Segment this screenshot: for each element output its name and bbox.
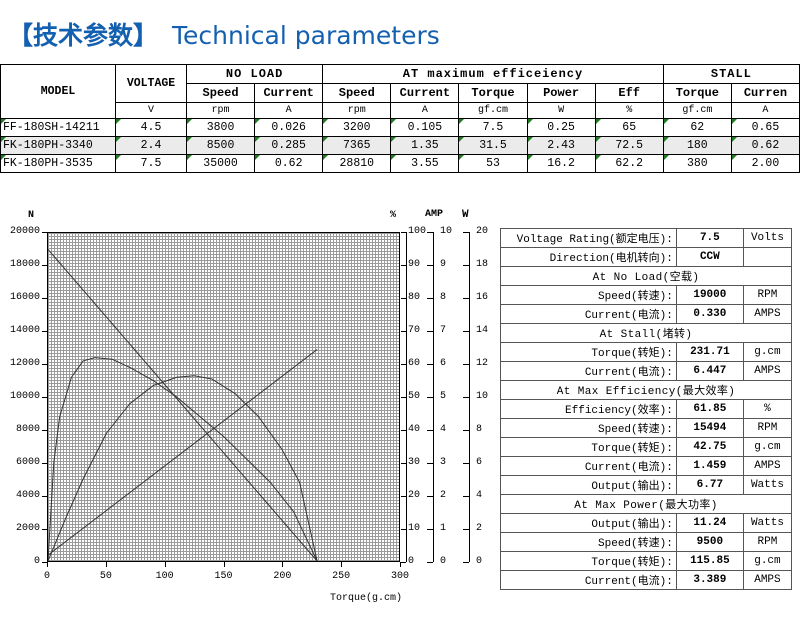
panel-data-row: Efficiency(效率):61.85% [501,400,792,419]
cell-st-torque: 380 [663,155,731,173]
cell-nl-speed: 8500 [187,137,255,155]
panel-section-row: At Stall(堵转) [501,324,792,343]
axis-tick [401,364,406,365]
cell-voltage: 4.5 [116,119,187,137]
axis-tick-label: 6000 [0,457,40,468]
panel-row-value: 61.85 [676,400,743,419]
axis-tick-label: 300 [388,571,412,582]
sub-st-torque: Torque [663,84,731,103]
panel-row-value: 115.85 [676,552,743,571]
axis-tick-label: 18000 [0,259,40,270]
panel-row-unit [743,248,791,267]
axis-tick [427,496,433,497]
axis-tick-label: 60 [408,358,420,369]
cell-me-torque: 31.5 [459,137,527,155]
tech-parameters-page: 【技术参数】Technical parameters MODEL VOLTAGE… [0,0,800,622]
panel-data-row: Current(电流):1.459AMPS [501,457,792,476]
cell-model: FK-180PH-3340 [1,137,116,155]
cell-nl-current: 0.026 [255,119,323,137]
panel-row-value: 19000 [676,286,743,305]
panel-section-label: At No Load(空载) [501,267,792,286]
axis-tick [463,562,469,563]
axis-tick-label: 150 [212,571,236,582]
axis-tick-label: 30 [408,457,420,468]
panel-row-value: CCW [676,248,743,267]
cell-me-power: 0.25 [527,119,595,137]
panel-row-unit: g.cm [743,343,791,362]
col-model: MODEL [1,65,116,119]
panel-row-label: Efficiency(效率): [501,400,677,419]
unit-st-torque: gf.cm [663,103,731,119]
axis-tick-label: 80 [408,292,420,303]
axis-tick [427,364,433,365]
axis-tick [165,562,166,567]
axis-tick-label: 0 [476,556,482,567]
axis-tick-label: 200 [270,571,294,582]
unit-nl-current: A [255,103,323,119]
panel-data-row: Torque(转矩):42.75g.cm [501,438,792,457]
unit-me-current: A [391,103,459,119]
axis-tick [401,430,406,431]
sub-st-current: Curren [731,84,799,103]
panel-row-unit: AMPS [743,571,791,590]
axis-tick-label: 14 [476,325,488,336]
axis-tick [463,463,469,464]
cell-st-torque: 62 [663,119,731,137]
sub-me-current: Current [391,84,459,103]
axis-tick-label: 10 [408,523,420,534]
group-no-load: NO LOAD [187,65,323,84]
axis-tick-label: 2 [476,523,482,534]
cell-me-power: 2.43 [527,137,595,155]
panel-row-unit: % [743,400,791,419]
x-axis-label: Torque(g.cm) [330,593,402,604]
panel-row-unit: g.cm [743,552,791,571]
axis-tick-label: 8 [476,424,482,435]
axis-head-amp: AMP [425,209,443,220]
panel-row-unit: AMPS [743,305,791,324]
axis-tick-label: 6 [476,457,482,468]
panel-section-label: At Max Power(最大功率) [501,495,792,514]
panel-data-row: Torque(转矩):231.71g.cm [501,343,792,362]
panel-section-row: At Max Efficiency(最大效率) [501,381,792,400]
table-row: FK-180PH-35357.5350000.62288103.555316.2… [1,155,800,173]
axis-tick [47,562,48,567]
axis-head-n: N [28,210,34,221]
axis-tick [401,397,406,398]
axis-tick [463,331,469,332]
panel-row-unit: Watts [743,514,791,533]
unit-st-current: A [731,103,799,119]
cell-st-current: 0.65 [731,119,799,137]
axis-tick-label: 70 [408,325,420,336]
panel-row-label: Current(电流): [501,571,677,590]
axis-tick [401,463,406,464]
panel-data-row: Output(输出):6.77Watts [501,476,792,495]
panel-data-row: Speed(转速):9500RPM [501,533,792,552]
panel-row-label: Current(电流): [501,305,677,324]
axis-tick-label: 50 [408,391,420,402]
axis-tick-label: 250 [329,571,353,582]
panel-row-label: Torque(转矩): [501,438,677,457]
cell-me-current: 3.55 [391,155,459,173]
panel-row-value: 15494 [676,419,743,438]
panel-row-label: Output(输出): [501,476,677,495]
axis-tick [401,562,406,563]
axis-tick-label: 100 [408,226,426,237]
panel-row-unit: RPM [743,533,791,552]
cell-st-torque: 180 [663,137,731,155]
cell-me-speed: 28810 [323,155,391,173]
axis-tick-label: 8000 [0,424,40,435]
axis-tick-label: 5 [440,391,446,402]
unit-nl-speed: rpm [187,103,255,119]
panel-data-row: Speed(转速):15494RPM [501,419,792,438]
cell-voltage: 2.4 [116,137,187,155]
panel-row-value: 3.389 [676,571,743,590]
cell-me-speed: 7365 [323,137,391,155]
panel-data-row: Output(输出):11.24Watts [501,514,792,533]
panel-row-value: 6.447 [676,362,743,381]
axis-tick-label: 90 [408,259,420,270]
axis-tick [401,529,406,530]
panel-row-value: 11.24 [676,514,743,533]
cell-me-torque: 7.5 [459,119,527,137]
axis-tick [427,529,433,530]
panel-data-row: Current(电流):3.389AMPS [501,571,792,590]
axis-tick-label: 100 [153,571,177,582]
spec-header-row-groups: MODEL VOLTAGE NO LOAD AT maximum efficei… [1,65,800,84]
panel-section-row: At Max Power(最大功率) [501,495,792,514]
cell-me-power: 16.2 [527,155,595,173]
axis-tick [427,397,433,398]
group-stall: STALL [663,65,799,84]
axis-tick-label: 4000 [0,490,40,501]
axis-tick [463,298,469,299]
axis-tick-label: 10 [440,226,452,237]
axis-tick-label: 10000 [0,391,40,402]
spec-table-body: FF-180SH-142114.538000.02632000.1057.50.… [1,119,800,173]
cell-nl-speed: 3800 [187,119,255,137]
spec-table-container: MODEL VOLTAGE NO LOAD AT maximum efficei… [0,64,800,173]
axis-tick-label: 2000 [0,523,40,534]
axis-tick [401,232,406,233]
axis-tick [341,562,342,567]
panel-section-row: At No Load(空载) [501,267,792,286]
spec-table: MODEL VOLTAGE NO LOAD AT maximum efficei… [0,64,800,173]
panel-row-label: Torque(转矩): [501,552,677,571]
sub-me-speed: Speed [323,84,391,103]
panel-row-unit: Watts [743,476,791,495]
panel-row-unit: g.cm [743,438,791,457]
axis-tick [463,232,469,233]
panel-row-label: Speed(转速): [501,419,677,438]
axis-tick-label: 50 [94,571,118,582]
panel-row-label: Direction(电机转向): [501,248,677,267]
panel-section-label: At Max Efficiency(最大效率) [501,381,792,400]
panel-data-row: Speed(转速):19000RPM [501,286,792,305]
sub-nl-speed: Speed [187,84,255,103]
panel-row-unit: RPM [743,286,791,305]
unit-me-power: W [527,103,595,119]
unit-voltage: V [116,103,187,119]
panel-row-label: Torque(转矩): [501,343,677,362]
axis-tick-label: 20000 [0,226,40,237]
axis-tick-label: 10 [476,391,488,402]
axis-tick-label: 16000 [0,292,40,303]
cell-me-eff: 62.2 [595,155,663,173]
axis-tick [400,562,401,567]
cell-me-speed: 3200 [323,119,391,137]
panel-row-value: 0.330 [676,305,743,324]
axis-head-pct: % [390,210,396,221]
axis-tick-label: 20 [408,490,420,501]
sub-nl-current: Current [255,84,323,103]
axis-tick-label: 7 [440,325,446,336]
axis-tick-label: 9 [440,259,446,270]
page-title-en: Technical parameters [172,21,440,50]
axis-tick-label: 12 [476,358,488,369]
curve-layer [48,233,399,561]
axis-tick-label: 16 [476,292,488,303]
axis-tick [224,562,225,567]
plot-area [47,232,400,562]
axis-tick-label: 0 [35,571,59,582]
table-row: FF-180SH-142114.538000.02632000.1057.50.… [1,119,800,137]
spec-table-head: MODEL VOLTAGE NO LOAD AT maximum efficei… [1,65,800,119]
axis-tick [463,364,469,365]
axis-tick [427,265,433,266]
axis-tick-label: 12000 [0,358,40,369]
axis-tick [106,562,107,567]
axis-tick [463,397,469,398]
cell-model: FF-180SH-14211 [1,119,116,137]
table-row: FK-180PH-33402.485000.28573651.3531.52.4… [1,137,800,155]
axis-spine [433,232,434,562]
curve-efficiency [48,358,317,561]
panel-data-row: Current(电流):6.447AMPS [501,362,792,381]
axis-tick [427,298,433,299]
motor-data-panel-body: Voltage Rating(额定电压):7.5VoltsDirection(电… [501,229,792,590]
cell-nl-speed: 35000 [187,155,255,173]
axis-tick-label: 0 [440,556,446,567]
panel-data-row: Torque(转矩):115.85g.cm [501,552,792,571]
axis-tick-label: 18 [476,259,488,270]
spec-header-row-units: V rpm A rpm A gf.cm W % gf.cm A [1,103,800,119]
axis-tick [401,265,406,266]
curve-current [48,350,317,556]
page-title-cn: 【技术参数】 [8,21,158,50]
axis-spine [469,232,470,562]
panel-data-row: Direction(电机转向):CCW [501,248,792,267]
panel-row-label: Voltage Rating(额定电压): [501,229,677,248]
col-voltage: VOLTAGE [116,65,187,103]
axis-tick-label: 8 [440,292,446,303]
cell-me-eff: 72.5 [595,137,663,155]
panel-row-label: Speed(转速): [501,286,677,305]
axis-tick-label: 1 [440,523,446,534]
panel-row-label: Output(输出): [501,514,677,533]
axis-tick [427,430,433,431]
axis-tick [401,298,406,299]
panel-row-value: 7.5 [676,229,743,248]
axis-tick [427,463,433,464]
cell-me-current: 0.105 [391,119,459,137]
unit-me-eff: % [595,103,663,119]
panel-section-label: At Stall(堵转) [501,324,792,343]
panel-row-value: 42.75 [676,438,743,457]
axis-tick [463,529,469,530]
group-max-efficiency: AT maximum efficeiency [323,65,664,84]
axis-spine [406,232,407,562]
axis-tick [401,496,406,497]
axis-tick-label: 40 [408,424,420,435]
cell-nl-current: 0.285 [255,137,323,155]
axis-tick [463,265,469,266]
panel-row-label: Current(电流): [501,362,677,381]
axis-tick-label: 4 [440,424,446,435]
cell-me-torque: 53 [459,155,527,173]
axis-tick-label: 20 [476,226,488,237]
axis-tick [463,430,469,431]
unit-me-torque: gf.cm [459,103,527,119]
axis-tick-label: 2 [440,490,446,501]
axis-tick-label: 6 [440,358,446,369]
sub-me-power: Power [527,84,595,103]
cell-model: FK-180PH-3535 [1,155,116,173]
panel-data-row: Voltage Rating(额定电压):7.5Volts [501,229,792,248]
sub-me-torque: Torque [459,84,527,103]
axis-head-w: W [462,209,469,221]
panel-row-label: Speed(转速): [501,533,677,552]
axis-tick [427,232,433,233]
axis-tick-label: 4 [476,490,482,501]
axis-tick-label: 0 [408,556,414,567]
axis-tick [463,496,469,497]
axis-tick [427,562,433,563]
panel-row-unit: RPM [743,419,791,438]
panel-row-value: 9500 [676,533,743,552]
panel-row-unit: AMPS [743,457,791,476]
cell-st-current: 2.00 [731,155,799,173]
unit-me-speed: rpm [323,103,391,119]
panel-row-label: Current(电流): [501,457,677,476]
axis-tick [401,331,406,332]
panel-row-value: 1.459 [676,457,743,476]
curve-speed [48,249,317,561]
sub-me-eff: Eff [595,84,663,103]
cell-st-current: 0.62 [731,137,799,155]
cell-me-current: 1.35 [391,137,459,155]
axis-tick-label: 14000 [0,325,40,336]
page-title: 【技术参数】Technical parameters [8,16,440,52]
cell-nl-current: 0.62 [255,155,323,173]
cell-me-eff: 65 [595,119,663,137]
panel-row-value: 6.77 [676,476,743,495]
curve-output-power [48,376,317,561]
panel-row-unit: Volts [743,229,791,248]
panel-data-row: Current(电流):0.330AMPS [501,305,792,324]
axis-tick [427,331,433,332]
cell-voltage: 7.5 [116,155,187,173]
panel-row-unit: AMPS [743,362,791,381]
motor-data-panel: Voltage Rating(额定电压):7.5VoltsDirection(电… [500,228,792,590]
panel-row-value: 231.71 [676,343,743,362]
axis-tick [282,562,283,567]
axis-tick-label: 3 [440,457,446,468]
axis-tick-label: 0 [0,556,40,567]
